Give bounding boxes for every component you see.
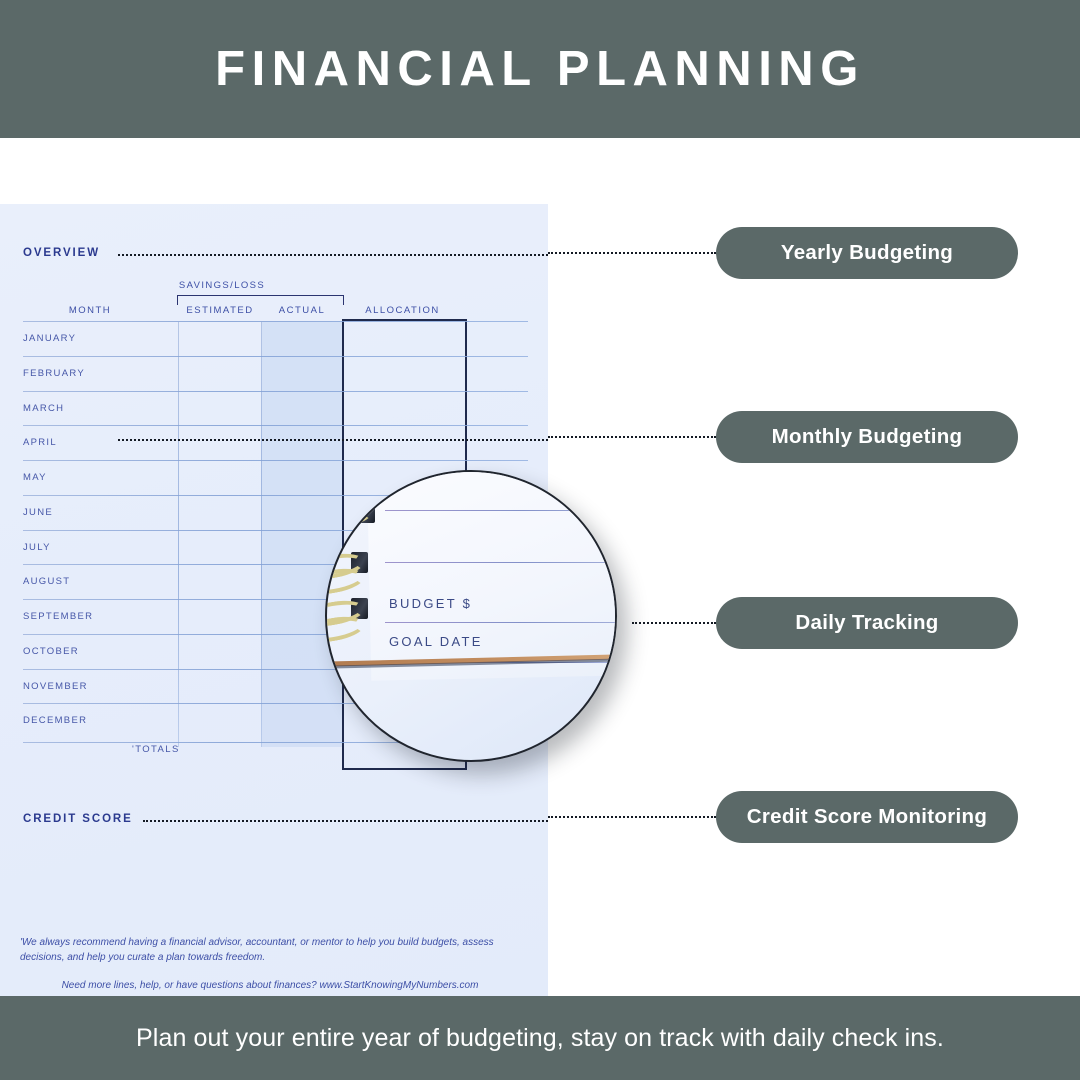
magnifier-inset: BUDGET $ GOAL DATE bbox=[325, 470, 617, 762]
connector-credit-score-monitoring bbox=[548, 816, 716, 818]
callout-credit-score-monitoring[interactable]: Credit Score Monitoring bbox=[716, 791, 1018, 843]
overview-row-rule bbox=[23, 321, 528, 322]
month-row-may: MAY bbox=[23, 472, 47, 483]
callout-label: Yearly Budgeting bbox=[781, 241, 953, 265]
column-header-month: MONTH bbox=[50, 305, 130, 316]
contact-footnote: Need more lines, help, or have questions… bbox=[20, 978, 520, 993]
column-header-actual: ACTUAL bbox=[262, 305, 342, 316]
month-row-march: MARCH bbox=[23, 403, 64, 414]
actual-column-highlight bbox=[261, 322, 342, 747]
month-row-september: SEPTEMBER bbox=[23, 611, 93, 622]
overview-row-rule bbox=[23, 356, 528, 357]
month-row-october: OCTOBER bbox=[23, 646, 79, 657]
footer-caption: Plan out your entire year of budgeting, … bbox=[136, 1024, 944, 1053]
magnified-planner-page bbox=[367, 470, 617, 681]
magnified-rule-1 bbox=[385, 510, 617, 511]
magnified-goal-date-label: GOAL DATE bbox=[389, 634, 483, 649]
callout-daily-tracking[interactable]: Daily Tracking bbox=[716, 597, 1018, 649]
page-title: FINANCIAL PLANNING bbox=[215, 41, 865, 97]
credit-score-leader-dots bbox=[143, 820, 548, 822]
month-row-february: FEBRUARY bbox=[23, 368, 85, 379]
overview-row-rule bbox=[23, 460, 528, 461]
column-header-estimated: ESTIMATED bbox=[180, 305, 260, 316]
month-row-june: JUNE bbox=[23, 507, 53, 518]
month-row-august: AUGUST bbox=[23, 576, 70, 587]
connector-daily-tracking bbox=[632, 622, 716, 624]
connector-monthly-budgeting bbox=[548, 436, 716, 438]
callout-label: Daily Tracking bbox=[795, 611, 938, 635]
totals-row-label: 'TOTALS bbox=[132, 744, 180, 755]
monthly-leader-dots bbox=[118, 439, 548, 441]
callout-label: Credit Score Monitoring bbox=[747, 805, 987, 829]
disclaimer-footnote: 'We always recommend having a financial … bbox=[20, 935, 520, 965]
month-row-april: APRIL bbox=[23, 437, 57, 448]
savings-loss-group-header: SAVINGS/LOSS bbox=[132, 280, 312, 291]
overview-leader-dots bbox=[118, 254, 548, 256]
column-header-allocation: ALLOCATION bbox=[350, 305, 455, 316]
footer-band: Plan out your entire year of budgeting, … bbox=[0, 996, 1080, 1080]
overview-row-rule bbox=[23, 391, 528, 392]
header-band: FINANCIAL PLANNING bbox=[0, 0, 1080, 138]
callout-monthly-budgeting[interactable]: Monthly Budgeting bbox=[716, 411, 1018, 463]
callout-label: Monthly Budgeting bbox=[772, 425, 963, 449]
month-row-december: DECEMBER bbox=[23, 715, 87, 726]
overview-section-title: OVERVIEW bbox=[23, 247, 100, 259]
magnified-rule-3 bbox=[385, 622, 617, 623]
magnified-rule-2 bbox=[385, 562, 617, 563]
month-row-january: JANUARY bbox=[23, 333, 76, 344]
overview-row-rule bbox=[23, 425, 528, 426]
callout-yearly-budgeting[interactable]: Yearly Budgeting bbox=[716, 227, 1018, 279]
credit-score-section-title: CREDIT SCORE bbox=[23, 813, 133, 825]
month-row-july: JULY bbox=[23, 542, 51, 553]
savings-loss-bracket bbox=[177, 295, 344, 305]
connector-yearly-budgeting bbox=[548, 252, 716, 254]
magnified-budget-label: BUDGET $ bbox=[389, 596, 472, 611]
column-divider-2 bbox=[261, 322, 262, 747]
month-row-november: NOVEMBER bbox=[23, 681, 88, 692]
column-divider-1 bbox=[178, 322, 179, 747]
